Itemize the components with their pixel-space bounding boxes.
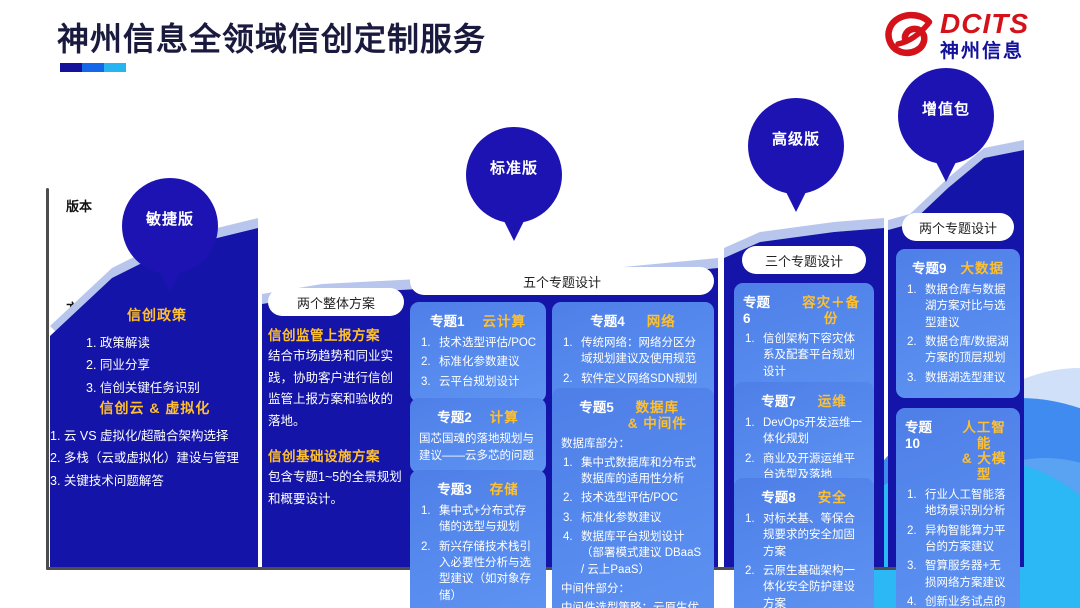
topic-tag: 运维 — [818, 394, 847, 410]
block-item: 3. 关键技术问题解答 — [48, 470, 262, 492]
topic-number: 专题4 — [590, 310, 625, 330]
topic-item: 智算服务器+无损网络方案建议 — [905, 558, 1011, 591]
pin-marker-standard[interactable]: 标准版 — [466, 127, 562, 249]
pin-label: 高级版 — [748, 128, 844, 149]
block-item: 2. 同业分享 — [62, 354, 252, 376]
title-underline-rule — [60, 63, 126, 72]
topic-item: 数据仓库与数据湖方案对比与选型建议 — [905, 282, 1011, 331]
topic-card-1[interactable]: 专题1 云计算 技术选型评估/POC 标准化参数建议 云平台规划设计 — [410, 302, 546, 402]
topic-item: DevOps开发运维一体化规划 — [743, 415, 865, 448]
topic-item: 数据仓库/数据湖方案的顶层规划 — [905, 334, 1011, 367]
topic-number: 专题7 — [761, 390, 796, 410]
topic-number: 专题2 — [437, 406, 472, 426]
slide-canvas: 神州信息全领域信创定制服务 DCITS 神州信息 版本 方案 信创政策 1. 政… — [0, 0, 1080, 608]
topic-subheading: 数据库部分： — [561, 436, 705, 453]
topic-tag: 云计算 — [483, 314, 527, 330]
pill-three-topics: 三个专题设计 — [742, 246, 866, 274]
block-item: 3. 信创关键任务识别 — [62, 377, 252, 399]
topic-tag: 人工智能& 大模型 — [957, 420, 1011, 482]
dcits-swirl-icon — [884, 10, 936, 62]
topic-number: 专题9 — [912, 257, 947, 277]
logo-brand-cn: 神州信息 — [940, 40, 1029, 64]
logo-brand-en: DCITS — [940, 10, 1029, 38]
topic-item: 创新业务试点的共研落地 — [905, 594, 1011, 608]
topic-card-9[interactable]: 专题9 大数据 数据仓库与数据湖方案对比与选型建议 数据仓库/数据湖方案的顶层规… — [896, 249, 1020, 398]
block-heading: 信创云 & 虚拟化 — [48, 398, 262, 418]
topic-item: 传统网络：网络分区分域规划建议及使用规范 — [561, 335, 705, 368]
axis-label-version: 版本 — [66, 196, 92, 215]
topic-item: 行业人工智能落地场景识别分析 — [905, 487, 1011, 520]
topic-number: 专题1 — [430, 310, 465, 330]
topic-item: 异构智能算力平台的方案建议 — [905, 523, 1011, 556]
dcits-logo: DCITS 神州信息 — [884, 8, 1064, 70]
topic-item: 云平台规划设计 — [419, 374, 537, 390]
topic-card-5[interactable]: 专题5 数据库& 中间件 数据库部分： 集中式数据库和分布式数据库的适用性分析 … — [552, 388, 714, 608]
page-title: 神州信息全领域信创定制服务 — [57, 14, 486, 60]
topic-item: 技术选型评估/POC — [419, 335, 537, 351]
topic-item: 标准化参数建议 — [419, 354, 537, 370]
topic-tag: 数据库& 中间件 — [628, 400, 687, 431]
topic-tag: 安全 — [818, 490, 847, 506]
pin-label: 敏捷版 — [122, 208, 218, 229]
pin-marker-agile[interactable]: 敏捷版 — [122, 178, 218, 300]
pin-marker-value[interactable]: 增值包 — [898, 68, 994, 190]
topic-item: 信创架构下容灾体系及配套平台规划设计 — [743, 331, 865, 380]
topic-number: 专题3 — [437, 478, 472, 498]
pill-two-overall-schemes: 两个整体方案 — [268, 288, 404, 316]
topic-item: 技术选型评估/POC — [561, 490, 705, 506]
scheme-heading: 信创基础设施方案 — [268, 445, 404, 465]
block-item: 2. 多栈（云或虚拟化）建设与管理 — [48, 447, 262, 469]
topic-tag: 存储 — [490, 482, 519, 498]
pin-label: 增值包 — [898, 98, 994, 119]
topic-number: 专题10 — [905, 416, 943, 451]
block-overall-schemes: 信创监管上报方案 结合市场趋势和同业实践，协助客户进行信创监管上报方案和验收的落… — [268, 324, 404, 510]
scheme-body: 结合市场趋势和同业实践，协助客户进行信创监管上报方案和验收的落地。 — [268, 346, 404, 432]
topic-item: 数据湖选型建议 — [905, 370, 1011, 386]
topic-item: 数据库平台规划设计（部署模式建议 DBaaS / 云上PaaS） — [561, 529, 705, 578]
pin-marker-advanced[interactable]: 高级版 — [748, 98, 844, 220]
block-item: 1. 云 VS 虚拟化/超融合架构选择 — [48, 425, 262, 447]
topic-tag: 容灾＋备份 — [797, 295, 865, 326]
topic-tag: 计算 — [490, 410, 519, 426]
topic-card-3[interactable]: 专题3 存储 集中式+分布式存储的选型与规划 新兴存储技术栈引入必要性分析与选型… — [410, 470, 546, 608]
topic-item: 标准化参数建议 — [561, 510, 705, 526]
topic-number: 专题6 — [743, 291, 775, 326]
block-heading: 信创政策 — [62, 305, 252, 325]
topic-number: 专题5 — [579, 396, 614, 416]
topic-number: 专题8 — [761, 486, 796, 506]
topic-text: 中间件选型策略：云原生优先+传统信创中间件+开源管理 — [561, 600, 705, 608]
topic-item: 新兴存储技术栈引入必要性分析与选型建议（如对象存储） — [419, 539, 537, 604]
pin-label: 标准版 — [466, 157, 562, 178]
topic-item: 对标关基、等保合规要求的安全加固方案 — [743, 511, 865, 560]
topic-item: 集中式数据库和分布式数据库的适用性分析 — [561, 455, 705, 488]
topic-card-2[interactable]: 专题2 计算 国芯国魂的落地规划与建议——云多芯的问题 — [410, 398, 546, 473]
topic-item: 集中式+分布式存储的选型与规划 — [419, 503, 537, 536]
topic-card-10[interactable]: 专题10 人工智能& 大模型 行业人工智能落地场景识别分析 异构智能算力平台的方… — [896, 408, 1020, 608]
topic-subheading: 中间件部分： — [561, 581, 705, 598]
axis-vertical — [46, 188, 49, 570]
pill-two-topics: 两个专题设计 — [902, 213, 1014, 241]
topic-text: 国芯国魂的落地规划与建议——云多芯的问题 — [419, 431, 537, 464]
scheme-heading: 信创监管上报方案 — [268, 324, 404, 344]
block-item: 1. 政策解读 — [62, 332, 252, 354]
block-xinchuang-policy: 信创政策 1. 政策解读 2. 同业分享 3. 信创关键任务识别 — [62, 305, 252, 399]
topic-card-8[interactable]: 专题8 安全 对标关基、等保合规要求的安全加固方案 云原生基础架构一体化安全防护… — [734, 478, 874, 608]
pill-five-topics: 五个专题设计 — [410, 267, 714, 295]
topic-tag: 大数据 — [961, 261, 1005, 277]
topic-item: 云原生基础架构一体化安全防护建设方案 — [743, 563, 865, 608]
topic-tag: 网络 — [647, 314, 676, 330]
block-cloud-virtualization: 信创云 & 虚拟化 1. 云 VS 虚拟化/超融合架构选择 2. 多栈（云或虚拟… — [48, 398, 262, 492]
scheme-body: 包含专题1~5的全景规划和概要设计。 — [268, 467, 404, 510]
